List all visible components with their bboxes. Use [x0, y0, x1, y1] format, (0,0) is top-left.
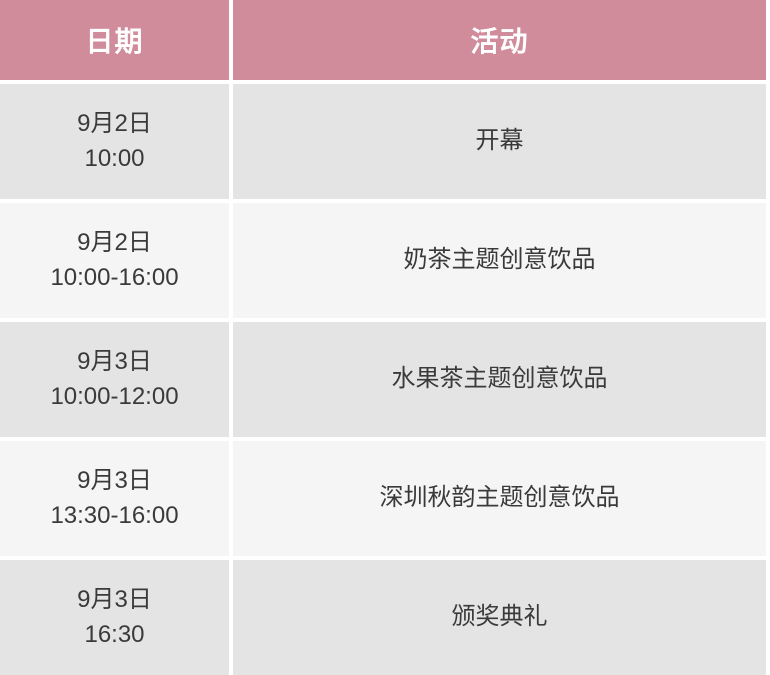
date-value: 9月2日 — [0, 226, 229, 261]
date-value: 9月2日 — [0, 107, 229, 142]
cell-activity: 奶茶主题创意饮品 — [233, 203, 770, 322]
column-header-activity: 活动 — [233, 0, 770, 84]
event-schedule-table: 日期 活动 9月2日 10:00 开幕 9月2日 10:00-16:00 奶茶主… — [0, 0, 770, 675]
column-header-date: 日期 — [0, 0, 233, 84]
table-header-row: 日期 活动 — [0, 0, 770, 84]
table-row: 9月2日 10:00-16:00 奶茶主题创意饮品 — [0, 203, 770, 322]
table-row: 9月2日 10:00 开幕 — [0, 84, 770, 203]
cell-date: 9月3日 10:00-12:00 — [0, 322, 233, 441]
cell-activity: 开幕 — [233, 84, 770, 203]
time-value: 13:30-16:00 — [0, 499, 229, 534]
table-body: 9月2日 10:00 开幕 9月2日 10:00-16:00 奶茶主题创意饮品 … — [0, 84, 770, 675]
table-row: 9月3日 13:30-16:00 深圳秋韵主题创意饮品 — [0, 441, 770, 560]
time-value: 10:00-16:00 — [0, 261, 229, 296]
date-value: 9月3日 — [0, 464, 229, 499]
cell-activity: 水果茶主题创意饮品 — [233, 322, 770, 441]
time-value: 10:00-12:00 — [0, 380, 229, 415]
table-header: 日期 活动 — [0, 0, 770, 84]
date-value: 9月3日 — [0, 583, 229, 618]
date-value: 9月3日 — [0, 345, 229, 380]
cell-activity: 深圳秋韵主题创意饮品 — [233, 441, 770, 560]
cell-date: 9月3日 13:30-16:00 — [0, 441, 233, 560]
table-row: 9月3日 16:30 颁奖典礼 — [0, 560, 770, 675]
time-value: 16:30 — [0, 618, 229, 653]
cell-date: 9月2日 10:00 — [0, 84, 233, 203]
time-value: 10:00 — [0, 142, 229, 177]
table-row: 9月3日 10:00-12:00 水果茶主题创意饮品 — [0, 322, 770, 441]
cell-activity: 颁奖典礼 — [233, 560, 770, 675]
cell-date: 9月3日 16:30 — [0, 560, 233, 675]
cell-date: 9月2日 10:00-16:00 — [0, 203, 233, 322]
